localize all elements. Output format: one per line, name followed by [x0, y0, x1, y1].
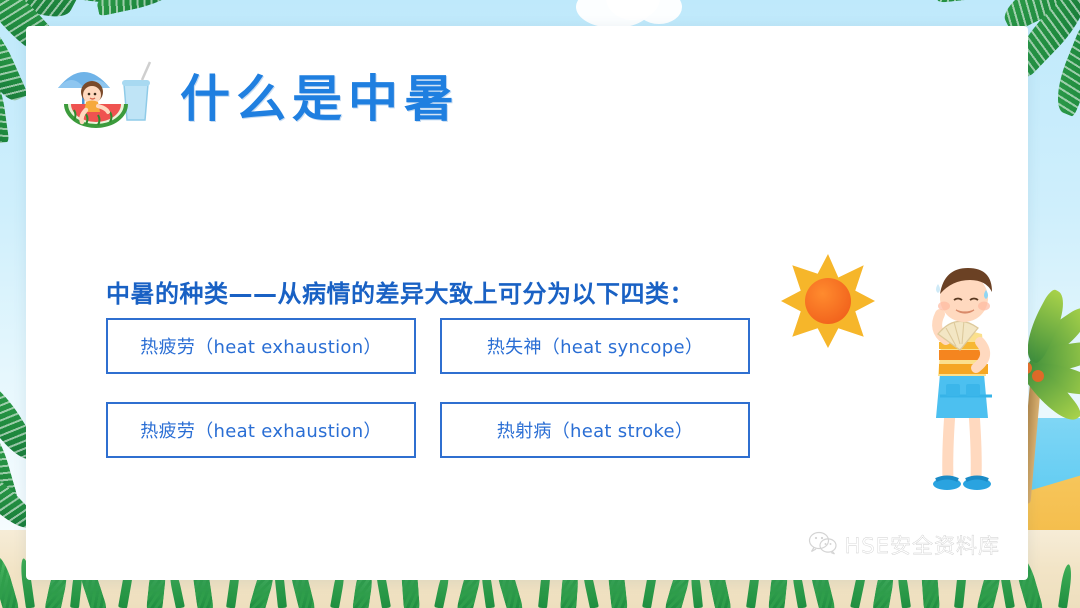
- category-label: 热射病（heat stroke）: [497, 417, 693, 443]
- watermark: HSE安全资料库: [808, 530, 1000, 560]
- page-title: 什么是中暑: [180, 74, 460, 124]
- category-label: 热疲劳（heat exhaustion）: [140, 333, 381, 359]
- watermark-text: HSE安全资料库: [845, 530, 1000, 560]
- wechat-icon: [808, 531, 838, 560]
- sun-core: [805, 278, 851, 324]
- category-box-heat-syncope[interactable]: 热失神（heat syncope）: [440, 318, 750, 374]
- category-label: 热失神（heat syncope）: [487, 333, 703, 359]
- watermelon-parasol-illustration: [50, 54, 162, 144]
- slide-header: 什么是中暑: [50, 54, 460, 144]
- category-grid: 热疲劳（heat exhaustion） 热失神（heat syncope） 热…: [106, 318, 756, 458]
- category-box-heat-exhaustion-2[interactable]: 热疲劳（heat exhaustion）: [106, 402, 416, 458]
- boy-fanning-illustration: [902, 262, 1022, 502]
- sun-icon: [781, 254, 875, 348]
- subtitle-text: 中暑的种类——从病情的差异大致上可分为以下四类：: [106, 274, 694, 309]
- slide-canvas: 什么是中暑 中暑的种类——从病情的差异大致上可分为以下四类： 热疲劳（heat …: [0, 0, 1080, 608]
- category-label: 热疲劳（heat exhaustion）: [140, 417, 381, 443]
- content-card: 什么是中暑 中暑的种类——从病情的差异大致上可分为以下四类： 热疲劳（heat …: [26, 26, 1028, 580]
- category-box-heat-stroke[interactable]: 热射病（heat stroke）: [440, 402, 750, 458]
- category-box-heat-exhaustion-1[interactable]: 热疲劳（heat exhaustion）: [106, 318, 416, 374]
